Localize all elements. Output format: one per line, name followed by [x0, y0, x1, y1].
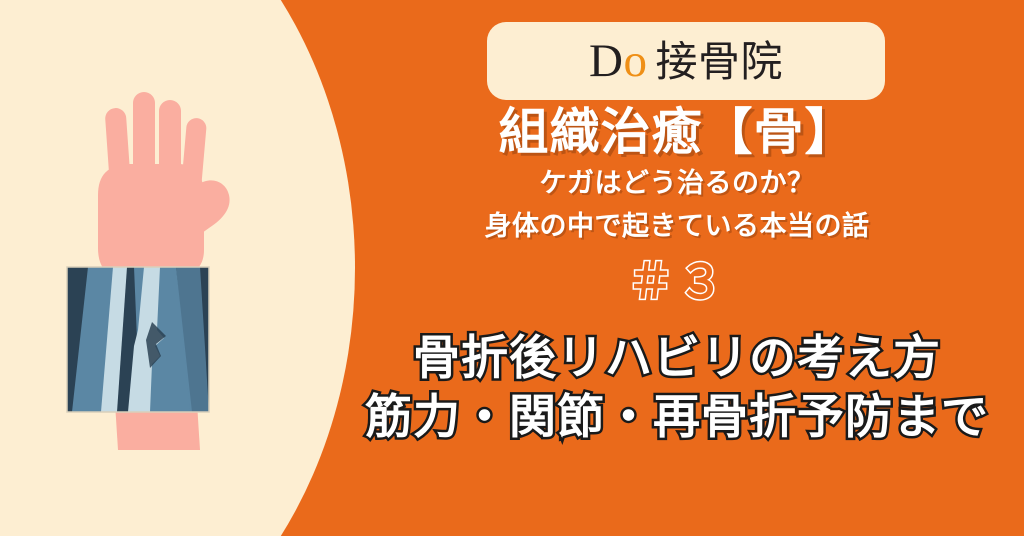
logo-japanese-text: 接骨院	[655, 41, 783, 83]
poster-text-column: 組織治癒【骨】 ケガはどう治るのか？ 身体の中で起きている本当の話 ＃３ 骨折後…	[330, 104, 1024, 448]
episode-headline: 骨折後リハビリの考え方 筋力・関節・再骨折予防まで	[330, 330, 1024, 448]
series-subtitle-line-1: ケガはどう治るのか？	[330, 166, 1024, 203]
clinic-logo-text: Do接骨院	[589, 38, 783, 85]
logo-letter-d: D	[589, 38, 623, 85]
episode-headline-line-2: 筋力・関節・再骨折予防まで	[330, 389, 1024, 448]
episode-headline-line-1: 骨折後リハビリの考え方	[330, 330, 1024, 389]
logo-letter-o: o	[623, 38, 647, 85]
xray-panel	[67, 267, 209, 412]
clinic-logo-badge: Do接骨院	[487, 22, 885, 100]
series-title: 組織治癒【骨】	[330, 104, 1024, 160]
hand-xray-illustration	[0, 0, 300, 536]
episode-number: ＃３	[330, 259, 1024, 306]
series-subtitle-line-2: 身体の中で起きている本当の話	[330, 209, 1024, 246]
poster-canvas: Do接骨院 組織治癒【骨】 ケガはどう治るのか？ 身体の中で起きている本当の話 …	[0, 0, 1024, 536]
